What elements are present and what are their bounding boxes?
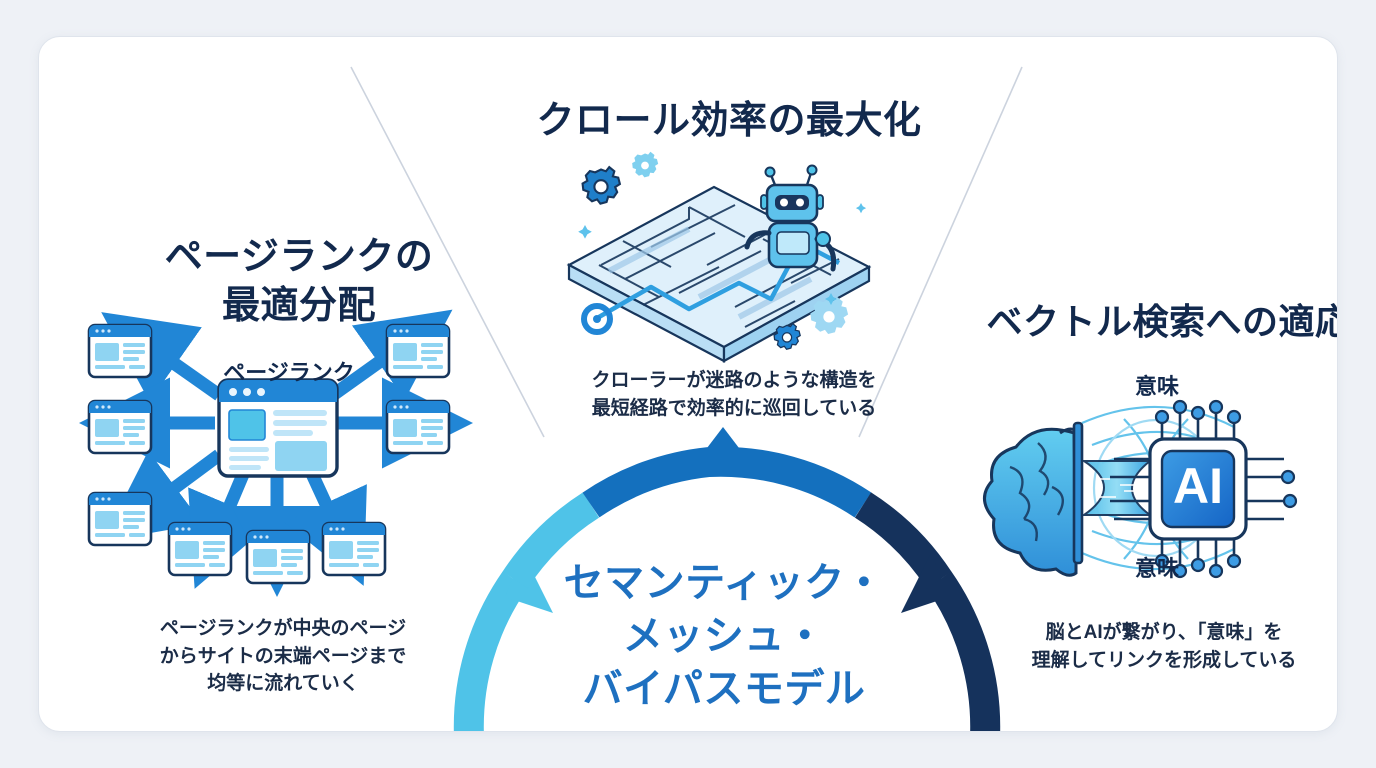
arc-segment-crawl [591,427,863,505]
caption-vector-line-1: 脳とAIが繋がり、「意味」を [984,619,1338,647]
heading-pagerank-line-1: ページランクの [99,233,499,282]
caption-vector: 脳とAIが繋がり、「意味」を 理解してリンクを形成している [984,619,1338,674]
meaning-label-top: 意味 [1097,369,1217,401]
center-title-line-2: メッシュ・ [509,610,939,663]
heading-crawl: クロール効率の最大化 [479,97,979,146]
isometric-maze [569,187,869,361]
maze-robot-illustration [539,147,899,357]
heading-pagerank: ページランクの 最適分配 [99,233,499,330]
heading-pagerank-line-2: 最適分配 [99,282,499,331]
heading-vector-line-1: ベクトル検索への適応 [969,299,1338,345]
caption-pagerank-line-2: からサイトの末端ページまで [97,643,469,671]
pagerank-distribution-illustration [69,305,469,625]
caption-vector-line-2: 理解してリンクを形成している [984,647,1338,675]
heading-crawl-line-1: クロール効率の最大化 [479,97,979,146]
pagerank-center-page [219,380,337,476]
caption-crawl-line-1: クローラーが迷路のような構造を [539,367,929,395]
caption-crawl-line-2: 最短経路で効率的に巡回している [539,395,929,423]
center-title-line-3: バイパスモデル [509,663,939,716]
caption-pagerank-line-3: 均等に流れていく [97,670,469,698]
infographic-canvas: ページランク [0,0,1376,768]
caption-crawl: クローラーが迷路のような構造を 最短経路で効率的に巡回している [539,367,929,422]
meaning-label-bottom: 意味 [1097,551,1217,583]
center-title: セマンティック・ メッシュ・ バイパスモデル [509,557,939,717]
center-title-line-1: セマンティック・ [509,557,939,610]
pagerank-center-label: ページランク [179,355,399,387]
infographic-card: ページランク [38,36,1338,732]
caption-pagerank: ページランクが中央のページ からサイトの末端ページまで 均等に流れていく [97,615,469,698]
ai-chip-label: AI [1173,458,1223,514]
caption-pagerank-line-1: ページランクが中央のページ [97,615,469,643]
heading-vector: ベクトル検索への適応 [969,299,1338,345]
